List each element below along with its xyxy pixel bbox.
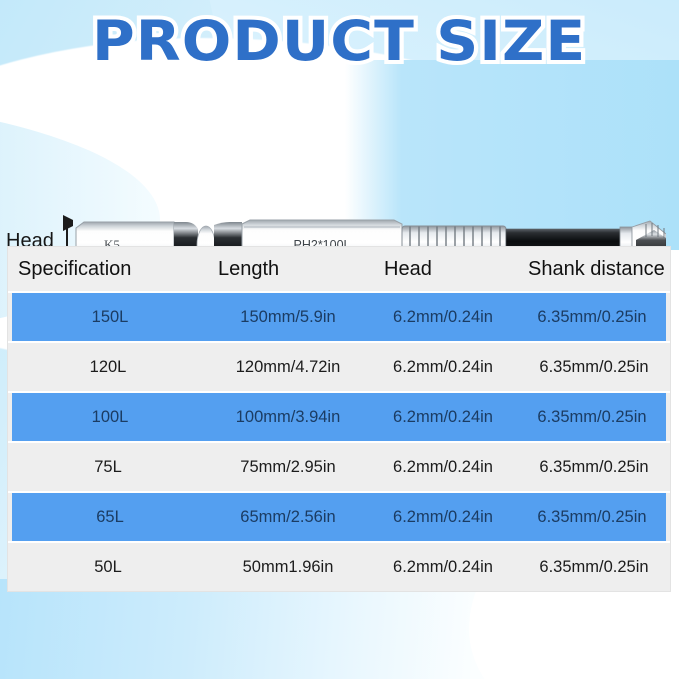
cell-length: 75mm/2.95in	[208, 458, 368, 477]
cell-head: 6.2mm/0.24in	[368, 408, 518, 427]
cell-head: 6.2mm/0.24in	[368, 508, 518, 527]
page-title: PRODUCT SIZE	[92, 13, 586, 71]
cell-specification: 50L	[8, 558, 208, 577]
cell-head: 6.2mm/0.24in	[368, 308, 518, 327]
page-title-container: PRODUCT SIZE	[0, 13, 679, 71]
cell-specification: 75L	[8, 458, 208, 477]
cell-length: 65mm/2.56in	[208, 508, 368, 527]
cell-specification: 65L	[12, 508, 208, 527]
cell-length: 120mm/4.72in	[208, 358, 368, 377]
cell-head: 6.2mm/0.24in	[368, 558, 518, 577]
table-body: 150L150mm/5.9in6.2mm/0.24in6.35mm/0.25in…	[8, 291, 670, 591]
column-header-head: Head	[368, 258, 518, 281]
cell-length: 150mm/5.9in	[208, 308, 368, 327]
table-row: 100L100mm/3.94in6.2mm/0.24in6.35mm/0.25i…	[12, 393, 666, 441]
column-header-shank-distance: Shank distance	[518, 258, 670, 281]
column-header-specification: Specification	[8, 258, 208, 281]
cell-shank-distance: 6.35mm/0.25in	[518, 308, 666, 327]
table-row: 65L65mm/2.56in6.2mm/0.24in6.35mm/0.25in	[12, 493, 666, 541]
specification-table: Specification Length Head Shank distance…	[8, 247, 670, 591]
product-diagram: Head	[0, 96, 679, 216]
cell-specification: 120L	[8, 358, 208, 377]
table-row: 50L50mm1.96in6.2mm/0.24in6.35mm/0.25in	[8, 543, 670, 591]
table-row: 150L150mm/5.9in6.2mm/0.24in6.35mm/0.25in	[12, 293, 666, 341]
cell-shank-distance: 6.35mm/0.25in	[518, 458, 670, 477]
cell-head: 6.2mm/0.24in	[368, 458, 518, 477]
product-size-infographic: PRODUCT SIZE Head	[0, 0, 679, 679]
cell-specification: 100L	[12, 408, 208, 427]
cell-head: 6.2mm/0.24in	[368, 358, 518, 377]
cell-shank-distance: 6.35mm/0.25in	[518, 558, 670, 577]
cell-length: 100mm/3.94in	[208, 408, 368, 427]
cell-shank-distance: 6.35mm/0.25in	[518, 408, 666, 427]
cell-shank-distance: 6.35mm/0.25in	[518, 358, 670, 377]
cell-shank-distance: 6.35mm/0.25in	[518, 508, 666, 527]
table-row: 120L120mm/4.72in6.2mm/0.24in6.35mm/0.25i…	[8, 343, 670, 391]
table-header-row: Specification Length Head Shank distance	[8, 247, 670, 291]
cell-length: 50mm1.96in	[208, 558, 368, 577]
cell-specification: 150L	[12, 308, 208, 327]
table-row: 75L75mm/2.95in6.2mm/0.24in6.35mm/0.25in	[8, 443, 670, 491]
column-header-length: Length	[208, 258, 368, 281]
